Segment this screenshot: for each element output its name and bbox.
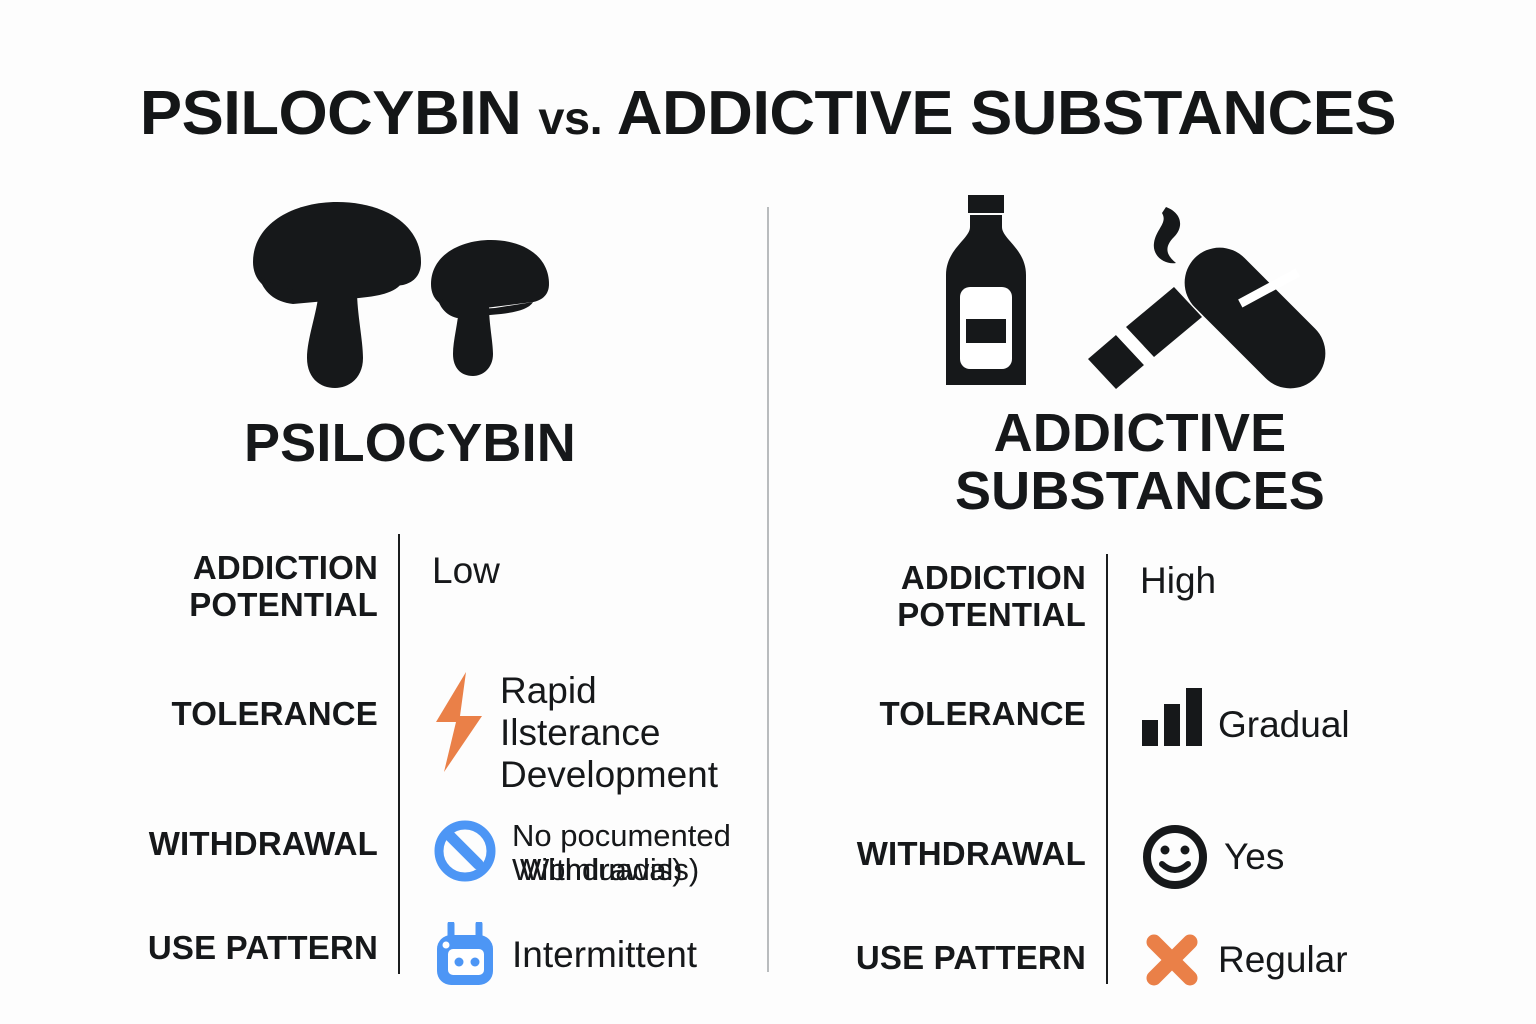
row-value-text: Regular <box>1218 939 1348 981</box>
row-value-tolerance: Rapid Ilsterance Development <box>432 670 762 797</box>
substance-group-icon <box>930 193 1350 393</box>
mushroom-small-icon <box>431 240 549 376</box>
row-value-line-2: Ilsterance <box>500 712 718 754</box>
row-label-line-1: WITHDRAWAL <box>58 826 378 863</box>
row-value-withdrawal: No pocumented Wibmluadis) Withdrawals) <box>432 818 762 887</box>
row-value-text-lines: Rapid Ilsterance Development <box>500 670 718 797</box>
row-value-text: Intermittent <box>512 934 697 976</box>
smiley-face-icon <box>1140 822 1210 892</box>
row-value-text: Low <box>432 550 500 592</box>
infographic-canvas: PSILOCYBIN vs. ADDICTIVE SUBSTANCES <box>0 0 1536 1024</box>
row-label-line-2: POTENTIAL <box>58 587 378 624</box>
row-value-addiction-potential: Low <box>432 550 762 592</box>
title-connector: vs. <box>538 92 602 144</box>
row-value-text-lines: No pocumented Wibmluadis) Withdrawals) <box>512 818 731 887</box>
title-part-two: ADDICTIVE SUBSTANCES <box>617 79 1396 148</box>
cross-x-icon <box>1140 928 1204 992</box>
row-value-withdrawal: Yes <box>1140 822 1480 892</box>
row-label-withdrawal: WITHDRAWAL <box>58 826 378 863</box>
row-label-line-1: TOLERANCE <box>58 696 378 733</box>
robot-icon <box>432 922 498 988</box>
row-label-line-1: ADDICTION <box>766 560 1086 597</box>
row-label-line-1: TOLERANCE <box>766 696 1086 733</box>
page-title: PSILOCYBIN vs. ADDICTIVE SUBSTANCES <box>0 78 1536 149</box>
row-label-use-pattern: USE PATTERN <box>58 930 378 967</box>
mushroom-group-icon <box>245 198 575 388</box>
row-value-line-3: Development <box>500 754 718 796</box>
row-label-line-1: USE PATTERN <box>58 930 378 967</box>
row-value-tolerance: Gradual <box>1140 686 1480 746</box>
panel-psilocybin: PSILOCYBIN ADDICTION POTENTIAL Low TOLER… <box>60 180 760 980</box>
row-value-text: High <box>1140 560 1216 602</box>
title-part-one: PSILOCYBIN <box>140 79 521 148</box>
row-value-use-pattern: Regular <box>1140 928 1480 992</box>
panel-heading-psilocybin: PSILOCYBIN <box>60 414 760 472</box>
row-value-text: Gradual <box>1218 704 1350 746</box>
panel-heading-line-1: ADDICTIVE <box>790 404 1490 462</box>
row-label-line-1: USE PATTERN <box>766 940 1086 977</box>
prohibition-icon <box>432 818 498 884</box>
inner-divider-right <box>1106 554 1108 984</box>
panel-heading-line-1: PSILOCYBIN <box>60 414 760 472</box>
row-value-line-2-overlay: Withdrawals) <box>520 853 699 887</box>
bar-chart-icon <box>1140 686 1204 746</box>
panel-addictive-substances: ADDICTIVE SUBSTANCES ADDICTION POTENTIAL… <box>790 180 1490 980</box>
cigarette-icon <box>1088 207 1202 389</box>
inner-divider-left <box>398 534 400 974</box>
mushroom-large-icon <box>253 202 421 388</box>
row-value-use-pattern: Intermittent <box>432 922 762 988</box>
row-label-tolerance: TOLERANCE <box>766 696 1086 733</box>
panel-heading-line-2: SUBSTANCES <box>790 462 1490 520</box>
row-value-line-2-garbled: Wibmluadis) Withdrawals) <box>512 853 731 887</box>
psilocybin-icon-group <box>60 188 760 398</box>
lightning-bolt-icon <box>432 670 486 774</box>
addictive-substances-icon-group <box>790 188 1490 398</box>
row-value-line-1: No pocumented <box>512 818 731 853</box>
row-value-line-1: Rapid <box>500 670 718 712</box>
row-value-text: Yes <box>1224 836 1284 878</box>
row-label-line-2: POTENTIAL <box>766 597 1086 634</box>
row-label-use-pattern: USE PATTERN <box>766 940 1086 977</box>
row-label-addiction-potential: ADDICTION POTENTIAL <box>766 560 1086 634</box>
row-label-line-1: ADDICTION <box>58 550 378 587</box>
row-value-addiction-potential: High <box>1140 560 1480 602</box>
panel-heading-addictive-substances: ADDICTIVE SUBSTANCES <box>790 404 1490 521</box>
row-label-line-1: WITHDRAWAL <box>766 836 1086 873</box>
row-label-tolerance: TOLERANCE <box>58 696 378 733</box>
bottle-icon <box>946 195 1026 385</box>
row-label-withdrawal: WITHDRAWAL <box>766 836 1086 873</box>
row-label-addiction-potential: ADDICTION POTENTIAL <box>58 550 378 624</box>
